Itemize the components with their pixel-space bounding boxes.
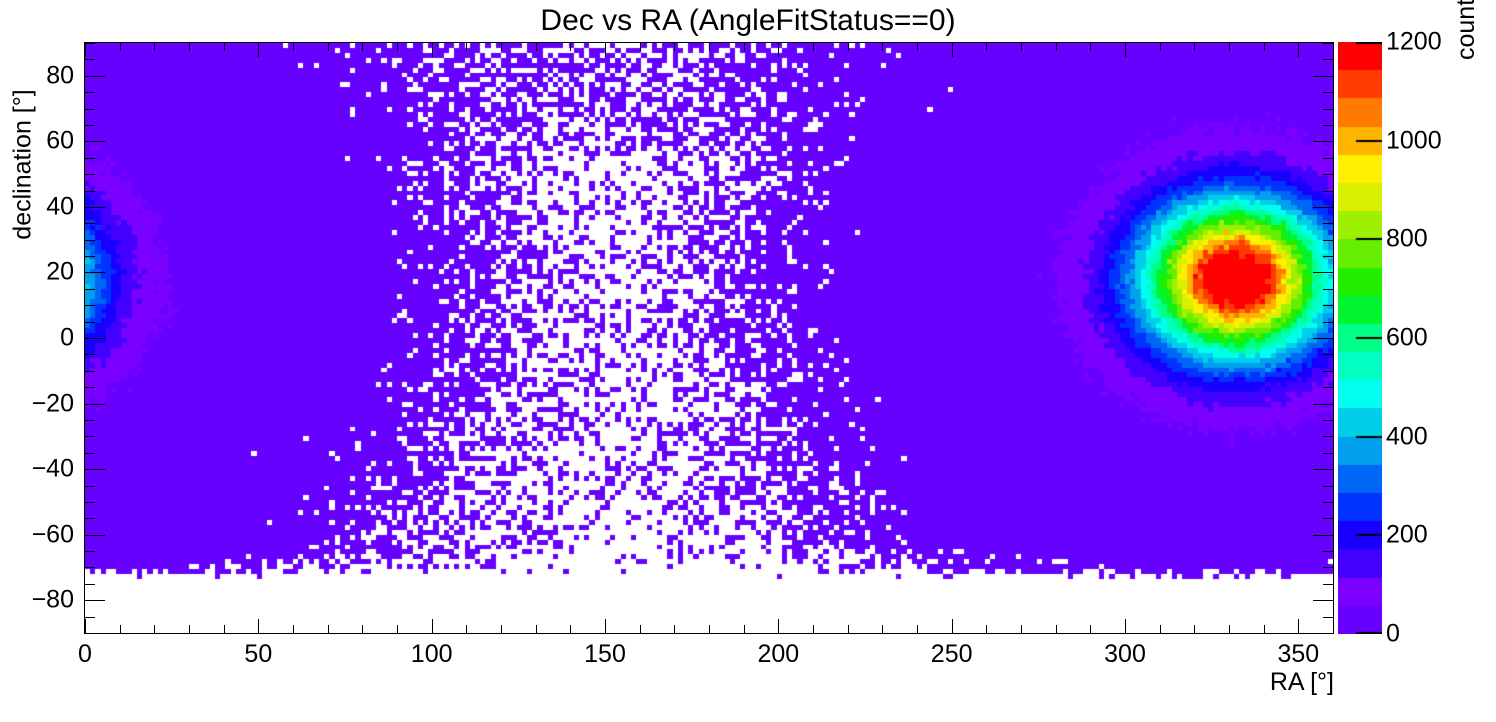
y-tick-right	[1323, 191, 1333, 192]
y-tick-label: 20	[0, 258, 74, 287]
z-tick-label: 600	[1386, 324, 1428, 353]
x-tick-top	[917, 43, 918, 51]
x-tick-top	[1264, 43, 1265, 51]
y-tick-right	[1313, 76, 1333, 77]
x-tick-top	[536, 43, 537, 51]
x-tick-top	[154, 43, 155, 51]
y-tick-right	[1323, 567, 1333, 568]
y-tick-label: −20	[0, 389, 74, 418]
x-tick-label: 250	[931, 640, 973, 669]
y-tick-right	[1323, 59, 1333, 60]
y-tick	[85, 551, 95, 552]
y-tick	[85, 617, 95, 618]
y-tick-right	[1313, 404, 1333, 405]
x-tick-top	[85, 43, 86, 57]
y-tick	[85, 256, 95, 257]
y-tick	[85, 191, 95, 192]
x-tick-top	[258, 43, 259, 57]
x-tick	[952, 619, 953, 633]
x-tick	[154, 625, 155, 633]
y-tick-right	[1323, 502, 1333, 503]
x-tick-top	[674, 43, 675, 51]
x-tick	[362, 625, 363, 633]
x-tick-top	[1056, 43, 1057, 51]
x-tick-top	[432, 43, 433, 57]
y-tick	[85, 322, 95, 323]
y-tick-right	[1323, 289, 1333, 290]
x-tick	[605, 619, 606, 633]
x-tick-top	[570, 43, 571, 51]
y-tick-right	[1313, 600, 1333, 601]
y-tick	[85, 354, 95, 355]
y-tick-right	[1323, 551, 1333, 552]
y-tick-right	[1323, 322, 1333, 323]
x-tick	[1264, 625, 1265, 633]
y-tick-right	[1323, 305, 1333, 306]
x-tick	[1125, 619, 1126, 633]
y-tick	[85, 174, 95, 175]
x-tick	[328, 625, 329, 633]
x-tick	[224, 625, 225, 633]
y-tick	[85, 207, 105, 208]
y-tick-right	[1323, 125, 1333, 126]
x-tick	[501, 625, 502, 633]
y-tick	[85, 338, 105, 339]
x-tick-top	[1125, 43, 1126, 57]
x-tick-label: 350	[1277, 640, 1319, 669]
y-tick	[85, 272, 105, 273]
y-tick	[85, 43, 95, 44]
y-tick-right	[1323, 584, 1333, 585]
y-tick-right	[1323, 486, 1333, 487]
y-tick	[85, 223, 95, 224]
x-tick	[674, 625, 675, 633]
x-tick	[1160, 625, 1161, 633]
y-tick	[85, 420, 95, 421]
x-tick-top	[744, 43, 745, 51]
x-tick-label: 100	[411, 640, 453, 669]
x-tick-top	[848, 43, 849, 51]
y-tick	[85, 305, 95, 306]
x-tick-top	[709, 43, 710, 51]
x-tick-top	[466, 43, 467, 51]
z-tick-label: 1200	[1386, 28, 1442, 57]
y-tick	[85, 486, 95, 487]
y-tick-right	[1313, 338, 1333, 339]
x-tick	[1021, 625, 1022, 633]
x-tick-top	[1298, 43, 1299, 57]
x-tick	[397, 625, 398, 633]
y-tick	[85, 76, 105, 77]
x-tick-top	[501, 43, 502, 51]
x-tick	[120, 625, 121, 633]
x-tick-top	[986, 43, 987, 51]
y-axis-title: declination [°]	[9, 89, 38, 239]
x-tick	[189, 625, 190, 633]
x-tick-top	[882, 43, 883, 51]
color-scale-canvas	[1338, 42, 1382, 634]
y-tick	[85, 535, 105, 536]
x-tick	[85, 619, 86, 633]
x-tick-top	[1333, 43, 1334, 51]
y-tick-label: −40	[0, 455, 74, 484]
y-tick-label: −60	[0, 520, 74, 549]
y-tick-right	[1313, 535, 1333, 536]
x-tick-top	[778, 43, 779, 57]
x-tick	[744, 625, 745, 633]
y-tick	[85, 387, 95, 388]
x-tick-top	[362, 43, 363, 51]
x-tick-label: 300	[1104, 640, 1146, 669]
y-tick-right	[1323, 453, 1333, 454]
y-tick	[85, 371, 95, 372]
x-tick-top	[120, 43, 121, 51]
y-tick-right	[1313, 469, 1333, 470]
y-tick	[85, 567, 95, 568]
x-tick-label: 150	[584, 640, 626, 669]
x-tick-label: 200	[757, 640, 799, 669]
x-tick-top	[1021, 43, 1022, 51]
y-tick-right	[1323, 92, 1333, 93]
x-tick	[258, 619, 259, 633]
page-title: Dec vs RA (AngleFitStatus==0)	[0, 4, 1496, 38]
y-tick-right	[1323, 617, 1333, 618]
x-tick	[466, 625, 467, 633]
x-tick-top	[1194, 43, 1195, 51]
y-tick-label: 80	[0, 61, 74, 90]
y-tick-right	[1323, 223, 1333, 224]
x-tick	[986, 625, 987, 633]
z-tick-label: 800	[1386, 225, 1428, 254]
z-tick-label: 1000	[1386, 126, 1442, 155]
y-tick	[85, 436, 95, 437]
y-tick-right	[1323, 158, 1333, 159]
y-tick-label: −80	[0, 586, 74, 615]
x-tick	[536, 625, 537, 633]
x-tick-label: 0	[78, 640, 92, 669]
x-tick-top	[224, 43, 225, 51]
x-tick-top	[189, 43, 190, 51]
y-tick-right	[1323, 371, 1333, 372]
y-tick-right	[1323, 633, 1333, 634]
x-tick-top	[397, 43, 398, 51]
x-tick	[432, 619, 433, 633]
x-tick	[293, 625, 294, 633]
y-tick	[85, 404, 105, 405]
y-tick	[85, 469, 105, 470]
y-tick-right	[1323, 420, 1333, 421]
y-tick	[85, 240, 95, 241]
y-tick	[85, 633, 95, 634]
color-scale-bar	[1338, 42, 1382, 634]
x-tick	[778, 619, 779, 633]
y-tick-right	[1313, 207, 1333, 208]
y-tick	[85, 584, 95, 585]
y-tick	[85, 109, 95, 110]
y-tick-right	[1323, 518, 1333, 519]
y-tick	[85, 141, 105, 142]
y-tick-right	[1323, 240, 1333, 241]
y-tick-right	[1313, 141, 1333, 142]
x-tick-top	[640, 43, 641, 51]
x-tick-top	[293, 43, 294, 51]
y-tick-right	[1323, 174, 1333, 175]
x-tick	[709, 625, 710, 633]
root-canvas: Dec vs RA (AngleFitStatus==0) 0501001502…	[0, 0, 1496, 722]
x-tick-top	[813, 43, 814, 51]
y-tick-right	[1323, 43, 1333, 44]
x-tick	[1194, 625, 1195, 633]
x-tick	[1056, 625, 1057, 633]
y-tick	[85, 289, 95, 290]
x-tick-label: 50	[244, 640, 272, 669]
histogram-canvas	[85, 43, 1333, 633]
y-tick-right	[1323, 109, 1333, 110]
x-tick	[848, 625, 849, 633]
y-tick	[85, 600, 105, 601]
z-tick-label: 400	[1386, 422, 1428, 451]
y-tick	[85, 518, 95, 519]
y-tick	[85, 453, 95, 454]
x-tick	[917, 625, 918, 633]
x-tick	[882, 625, 883, 633]
y-tick-right	[1323, 387, 1333, 388]
x-axis-title: RA [°]	[1270, 668, 1334, 697]
y-tick-right	[1323, 436, 1333, 437]
x-tick	[640, 625, 641, 633]
x-tick-top	[1229, 43, 1230, 51]
y-tick	[85, 92, 95, 93]
x-tick	[1298, 619, 1299, 633]
y-tick	[85, 502, 95, 503]
y-tick	[85, 59, 95, 60]
z-tick-label: 200	[1386, 521, 1428, 550]
z-tick-label: 0	[1386, 620, 1400, 649]
x-tick-top	[605, 43, 606, 57]
x-tick-top	[328, 43, 329, 51]
y-tick	[85, 125, 95, 126]
y-tick-right	[1313, 272, 1333, 273]
x-tick-top	[1160, 43, 1161, 51]
x-tick	[570, 625, 571, 633]
y-tick-right	[1323, 354, 1333, 355]
plot-frame	[84, 42, 1334, 634]
x-tick	[1229, 625, 1230, 633]
y-tick	[85, 158, 95, 159]
x-tick	[813, 625, 814, 633]
color-scale-title: count	[1452, 0, 1481, 60]
x-tick	[1090, 625, 1091, 633]
x-tick-top	[1090, 43, 1091, 51]
x-tick	[1333, 625, 1334, 633]
y-tick-right	[1323, 256, 1333, 257]
x-tick-top	[952, 43, 953, 57]
y-tick-label: 0	[0, 324, 74, 353]
